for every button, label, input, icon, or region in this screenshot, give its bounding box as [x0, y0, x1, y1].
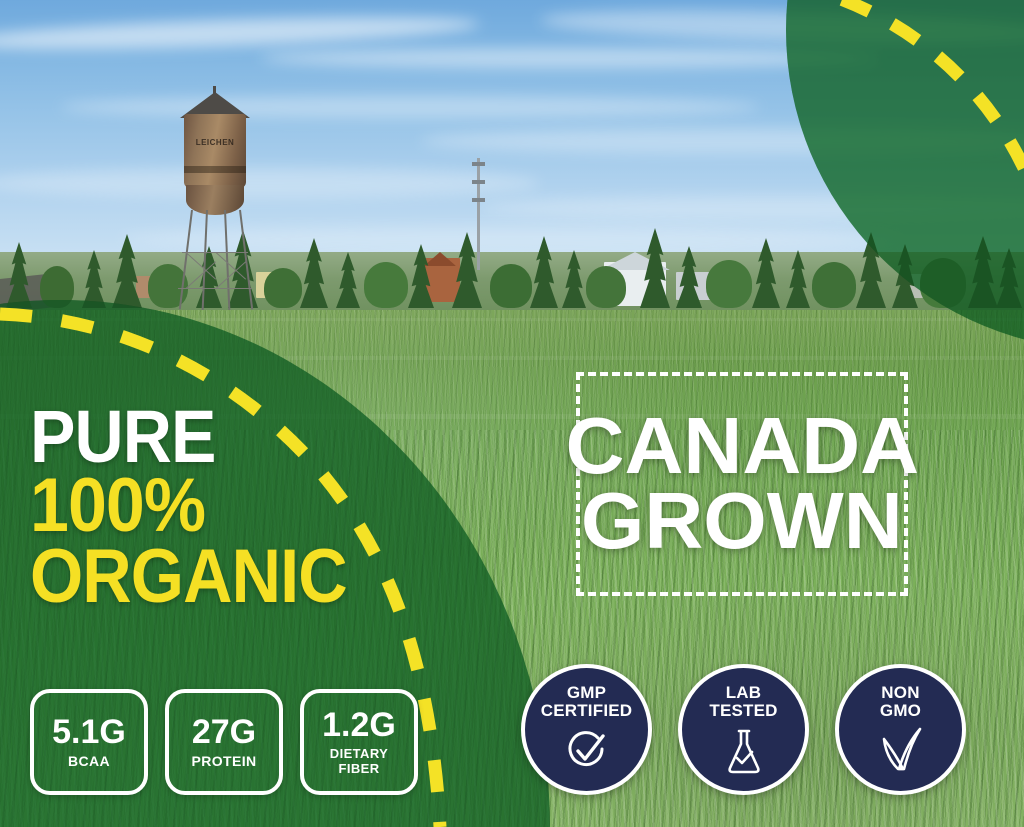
cell-tower-antenna [472, 162, 485, 166]
trust-badge-line-2: CERTIFIED [541, 702, 633, 720]
water-tower-tank: LEICHEN [184, 114, 246, 188]
trust-badge-line-1: NON [881, 684, 919, 702]
tree [706, 260, 752, 308]
canada-grown-stamp: CANADA GROWN [576, 372, 908, 596]
cloud [0, 11, 480, 55]
nutrition-badge-protein: 27G PROTEIN [165, 689, 283, 795]
tree [364, 262, 408, 308]
nutrition-badge-dietary-fiber: 1.2G DIETARY FIBER [300, 689, 418, 795]
nutrition-value: 5.1G [52, 715, 126, 749]
trust-badge-line-1: GMP [567, 684, 606, 702]
tree [586, 266, 626, 308]
trust-badge-gmp-certified: GMP CERTIFIED [521, 664, 652, 795]
cloud [0, 168, 540, 198]
tree [490, 264, 532, 308]
cell-tower-antenna [472, 180, 485, 184]
marketing-banner: LEICHEN [0, 0, 1024, 827]
headline: PURE 100% ORGANIC [30, 404, 410, 611]
leaf-check-icon [876, 727, 926, 773]
stamp-line-2: GROWN [581, 487, 903, 556]
cell-tower-antenna [472, 198, 485, 202]
headline-line-1: PURE [30, 404, 380, 469]
check-circle-icon [564, 727, 610, 773]
nutrition-badge-bcaa: 5.1G BCAA [30, 689, 148, 795]
headline-line-3: ORGANIC [30, 544, 372, 611]
nutrition-badges: 5.1G BCAA 27G PROTEIN 1.2G DIETARY FIBER [30, 689, 418, 795]
water-tower-leg [239, 210, 253, 309]
trust-badge-line-1: LAB [726, 684, 762, 702]
flask-icon [723, 727, 765, 775]
water-tower-bowl [186, 185, 244, 215]
stamp-line-1: CANADA [565, 412, 919, 481]
trust-badge-line-2: TESTED [709, 702, 777, 720]
cell-tower [477, 158, 480, 270]
nutrition-label: BCAA [68, 754, 110, 769]
water-tower-leg [202, 210, 208, 310]
water-tower-label: LEICHEN [184, 138, 246, 147]
nutrition-label-line-1: DIETARY [330, 747, 388, 761]
trust-badge-line-2: GMO [880, 702, 921, 720]
nutrition-label: PROTEIN [191, 754, 256, 769]
headline-line-2: 100% [30, 473, 380, 540]
water-tower: LEICHEN [160, 92, 270, 314]
nutrition-value: 1.2G [322, 708, 396, 742]
nutrition-label-line-2: FIBER [339, 762, 380, 776]
trust-badges: GMP CERTIFIED LAB TESTED NON G [521, 664, 966, 795]
nutrition-value: 27G [192, 715, 256, 749]
tree [812, 262, 856, 308]
water-tower-leg [179, 210, 193, 309]
trust-badge-lab-tested: LAB TESTED [678, 664, 809, 795]
trust-badge-non-gmo: NON GMO [835, 664, 966, 795]
